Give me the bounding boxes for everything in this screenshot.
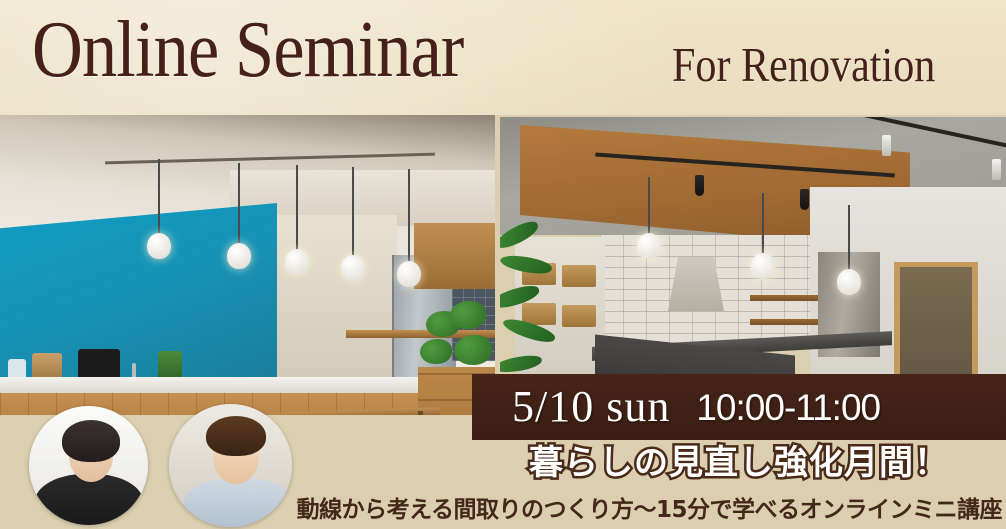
header-band: Online Seminar For Renovation — [0, 0, 1006, 115]
photo-kitchen-industrial — [500, 117, 1006, 412]
spotlight — [695, 175, 704, 196]
table-leg — [418, 411, 423, 415]
pendant-light — [848, 205, 850, 271]
page-title: Online Seminar — [32, 10, 464, 90]
wall-shelf — [750, 295, 828, 301]
pendant-light — [648, 177, 650, 235]
pendant-light — [238, 163, 240, 245]
spotlight — [882, 135, 891, 156]
seminar-date: 5/10 sun — [512, 385, 670, 429]
counter-items — [8, 347, 198, 381]
back-wall — [277, 215, 397, 385]
pendant-light — [762, 193, 764, 255]
seminar-banner: Online Seminar For Renovation — [0, 0, 1006, 529]
subtitle: 動線から考える間取りのつくり方〜15分で学べるオンラインミニ講座 — [0, 497, 1006, 525]
presenter-hair — [206, 416, 266, 456]
pendant-light — [158, 159, 160, 235]
upper-cabinet — [414, 223, 495, 289]
page-subtitle: For Renovation — [672, 40, 935, 89]
storage-basket — [562, 265, 596, 287]
presenter-hair — [62, 420, 120, 462]
pendant-light — [408, 169, 410, 263]
pendant-light — [296, 165, 298, 251]
headline: 暮らしの見直し強化月間！ — [472, 446, 1006, 480]
photo-kitchen-turquoise — [0, 115, 495, 415]
spotlight — [800, 189, 809, 210]
wall-shelf — [750, 319, 828, 325]
seminar-time: 10:00-11:00 — [696, 389, 880, 426]
storage-basket — [562, 305, 596, 327]
spotlight — [992, 159, 1001, 180]
date-band: 5/10 sun 10:00-11:00 — [472, 374, 1006, 440]
pendant-light — [352, 167, 354, 257]
